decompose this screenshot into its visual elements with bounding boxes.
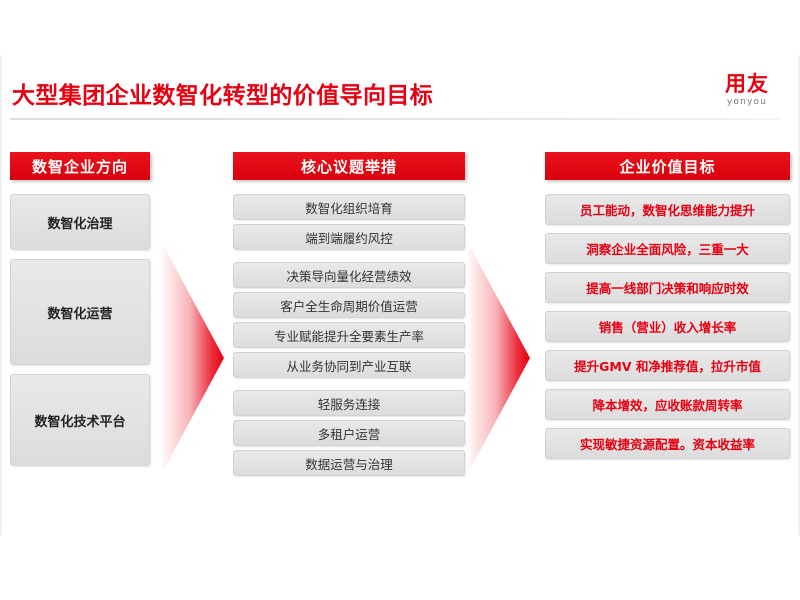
column-header-right: 企业价值目标 bbox=[545, 152, 790, 180]
right-item-1[interactable]: 洞察企业全面风险，三重一大 bbox=[545, 233, 790, 264]
left-item-2[interactable]: 数智化技术平台 bbox=[10, 374, 150, 466]
middle-item-1-2[interactable]: 专业赋能提升全要素生产率 bbox=[233, 322, 465, 348]
middle-item-2-1[interactable]: 多租户运营 bbox=[233, 420, 465, 446]
middle-item-2-2[interactable]: 数据运营与治理 bbox=[233, 450, 465, 476]
right-item-4[interactable]: 提升GMV 和净推荐值，拉升市值 bbox=[545, 350, 790, 381]
middle-item-2-0[interactable]: 轻服务连接 bbox=[233, 390, 465, 416]
left-item-label: 数智化技术平台 bbox=[34, 411, 125, 430]
middle-item-label: 端到端履约风控 bbox=[305, 228, 393, 247]
middle-item-label: 数智化组织培育 bbox=[305, 198, 393, 217]
right-item-label: 提高一线部门决策和响应时效 bbox=[586, 278, 749, 297]
right-item-label: 销售（营业）收入增长率 bbox=[599, 317, 737, 336]
right-item-label: 提升GMV 和净推荐值，拉升市值 bbox=[574, 356, 761, 375]
right-item-label: 降本增效，应收账款周转率 bbox=[592, 395, 742, 414]
slide-header: 大型集团企业数智化转型的价值导向目标 用友 yonyou bbox=[0, 76, 800, 132]
column-core-initiatives: 核心议题举措 数智化组织培育端到端履约风控决策导向量化经营绩效客户全生命周期价值… bbox=[233, 152, 465, 488]
arrow-left-to-middle-icon bbox=[162, 243, 224, 473]
middle-item-label: 客户全生命周期价值运营 bbox=[280, 296, 418, 315]
right-item-0[interactable]: 员工能动，数智化思维能力提升 bbox=[545, 194, 790, 225]
middle-item-0-1[interactable]: 端到端履约风控 bbox=[233, 224, 465, 250]
column-enterprise-direction: 数智企业方向 数智化治理数智化运营数智化技术平台 bbox=[10, 152, 158, 475]
right-item-2[interactable]: 提高一线部门决策和响应时效 bbox=[545, 272, 790, 303]
left-item-list: 数智化治理数智化运营数智化技术平台 bbox=[10, 194, 158, 466]
right-item-6[interactable]: 实现敏捷资源配置。资本收益率 bbox=[545, 428, 790, 459]
middle-group-2: 轻服务连接多租户运营数据运营与治理 bbox=[233, 390, 465, 476]
right-item-3[interactable]: 销售（营业）收入增长率 bbox=[545, 311, 790, 342]
title-divider bbox=[10, 118, 780, 120]
right-item-label: 员工能动，数智化思维能力提升 bbox=[580, 200, 755, 219]
middle-group-1: 决策导向量化经营绩效客户全生命周期价值运营专业赋能提升全要素生产率从业务协同到产… bbox=[233, 262, 465, 378]
column-header-middle: 核心议题举措 bbox=[233, 152, 465, 180]
arrow-middle-to-right-icon bbox=[468, 243, 530, 473]
logo-wordmark: yonyou bbox=[708, 96, 786, 108]
middle-item-label: 专业赋能提升全要素生产率 bbox=[274, 326, 424, 345]
page-title: 大型集团企业数智化转型的价值导向目标 bbox=[12, 76, 433, 110]
brand-logo: 用友 yonyou bbox=[708, 72, 786, 108]
left-item-label: 数智化治理 bbox=[47, 213, 112, 232]
middle-item-label: 轻服务连接 bbox=[318, 394, 381, 413]
middle-item-label: 从业务协同到产业互联 bbox=[286, 356, 411, 375]
middle-item-0-0[interactable]: 数智化组织培育 bbox=[233, 194, 465, 220]
middle-item-1-1[interactable]: 客户全生命周期价值运营 bbox=[233, 292, 465, 318]
middle-group-list: 数智化组织培育端到端履约风控决策导向量化经营绩效客户全生命周期价值运营专业赋能提… bbox=[233, 194, 465, 476]
slide-canvas: 大型集团企业数智化转型的价值导向目标 用友 yonyou bbox=[0, 0, 800, 600]
left-item-label: 数智化运营 bbox=[47, 303, 112, 322]
logo-mark: 用友 bbox=[708, 72, 786, 96]
left-item-0[interactable]: 数智化治理 bbox=[10, 194, 150, 250]
column-value-goals: 企业价值目标 员工能动，数智化思维能力提升洞察企业全面风险，三重一大提高一线部门… bbox=[545, 152, 790, 467]
middle-item-1-0[interactable]: 决策导向量化经营绩效 bbox=[233, 262, 465, 288]
left-item-1[interactable]: 数智化运营 bbox=[10, 259, 150, 365]
right-item-label: 洞察企业全面风险，三重一大 bbox=[586, 239, 749, 258]
right-item-list: 员工能动，数智化思维能力提升洞察企业全面风险，三重一大提高一线部门决策和响应时效… bbox=[545, 194, 790, 459]
middle-item-label: 多租户运营 bbox=[318, 424, 381, 443]
middle-item-label: 决策导向量化经营绩效 bbox=[286, 266, 411, 285]
middle-group-0: 数智化组织培育端到端履约风控 bbox=[233, 194, 465, 250]
right-item-5[interactable]: 降本增效，应收账款周转率 bbox=[545, 389, 790, 420]
middle-item-1-3[interactable]: 从业务协同到产业互联 bbox=[233, 352, 465, 378]
middle-item-label: 数据运营与治理 bbox=[305, 454, 393, 473]
column-header-left: 数智企业方向 bbox=[10, 152, 150, 180]
right-item-label: 实现敏捷资源配置。资本收益率 bbox=[580, 434, 755, 453]
